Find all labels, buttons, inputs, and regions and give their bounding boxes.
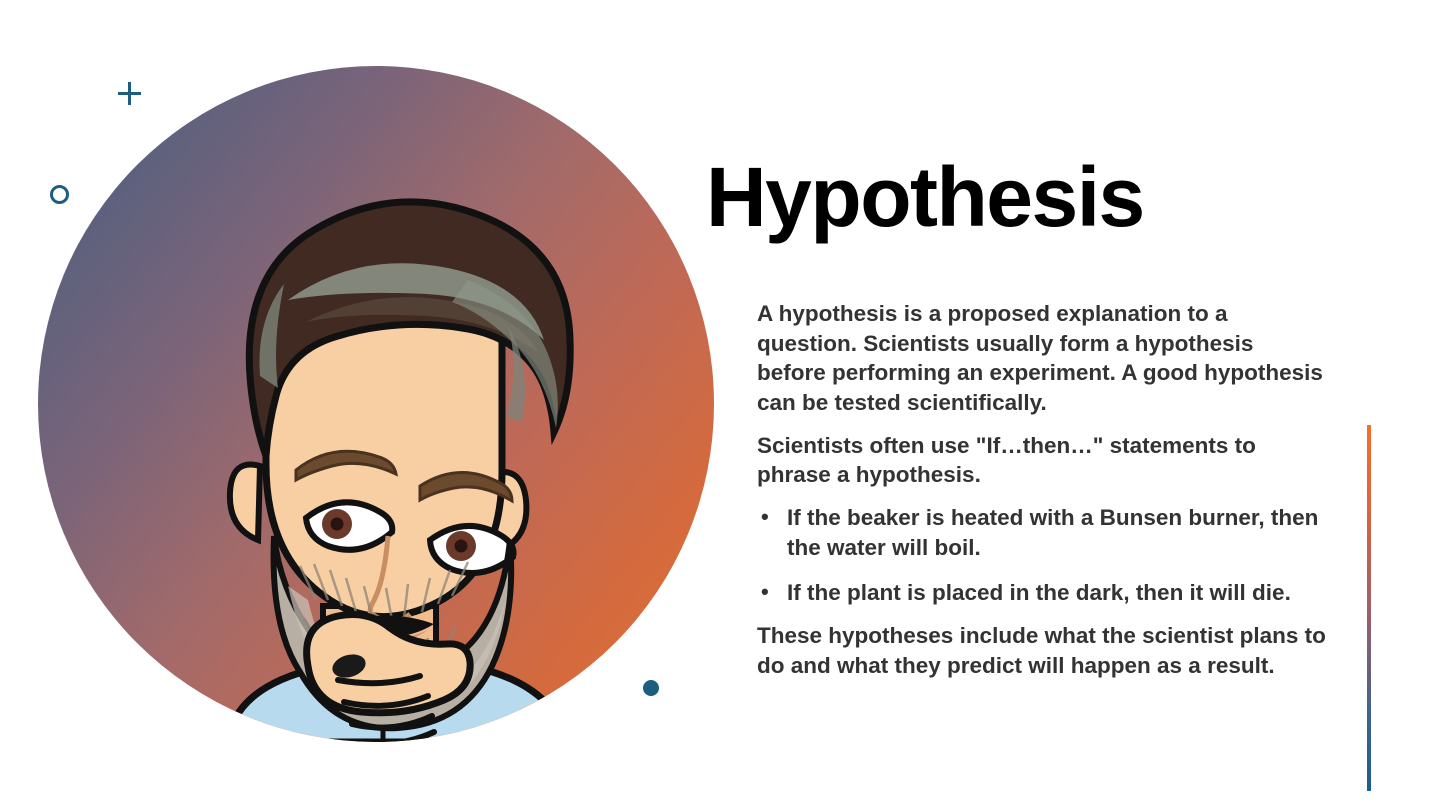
body-paragraph-1: A hypothesis is a proposed explanation t… — [757, 299, 1327, 418]
avatar-circle — [38, 66, 714, 742]
list-item: If the plant is placed in the dark, then… — [757, 578, 1327, 608]
slide-title: Hypothesis — [706, 155, 1144, 239]
hypothesis-examples-list: If the beaker is heated with a Bunsen bu… — [757, 503, 1327, 607]
body-paragraph-closing: These hypotheses include what the scient… — [757, 621, 1327, 680]
slide-canvas: Hypothesis A hypothesis is a proposed ex… — [0, 0, 1440, 810]
body-paragraph-2: Scientists often use "If…then…" statemen… — [757, 431, 1327, 490]
gradient-accent-bar — [1367, 425, 1371, 791]
list-item: If the beaker is heated with a Bunsen bu… — [757, 503, 1327, 562]
slide-body: A hypothesis is a proposed explanation t… — [757, 299, 1327, 681]
avatar-illustration — [38, 66, 714, 742]
